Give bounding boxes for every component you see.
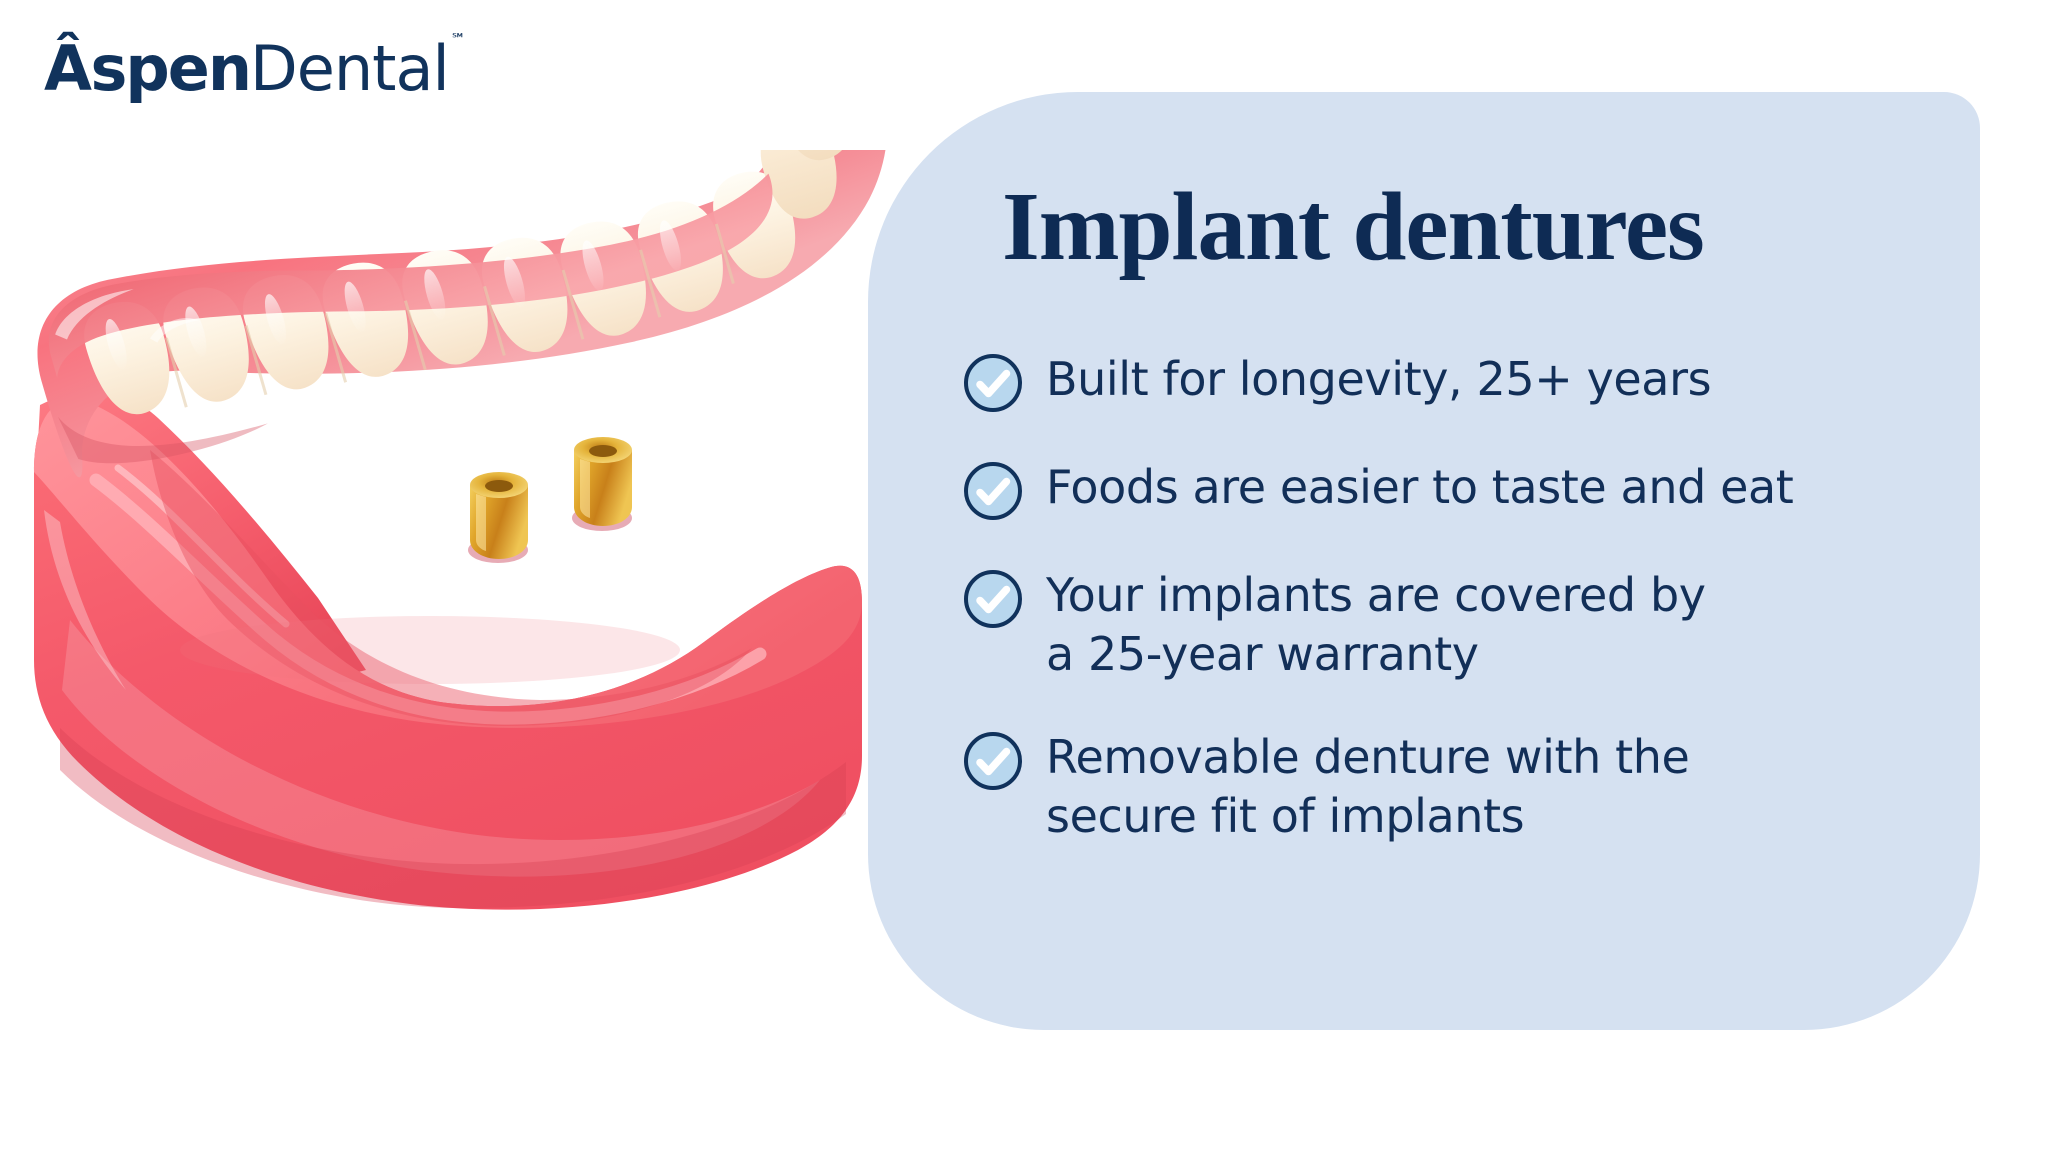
list-item: Foods are easier to taste and eat <box>962 456 1962 522</box>
list-item-label: Built for longevity, 25+ years <box>1046 348 1711 409</box>
check-circle-icon <box>962 460 1024 522</box>
implant-denture-model-photo <box>0 150 960 1050</box>
list-item: Built for longevity, 25+ years <box>962 348 1962 414</box>
list-item-label: Removable denture with the secure fit of… <box>1046 726 1689 846</box>
list-item: Removable denture with the secure fit of… <box>962 726 1962 846</box>
benefits-list: Built for longevity, 25+ years Foods are… <box>962 348 1962 846</box>
check-circle-icon <box>962 730 1024 792</box>
page-title: Implant dentures <box>1002 178 1704 277</box>
implant-abutment-left <box>468 472 528 563</box>
upper-denture <box>6 150 933 503</box>
slide-canvas: ÂspenDental℠ <box>0 0 2048 1152</box>
logo-trademark-symbol: ℠ <box>451 31 466 48</box>
logo-bold-word: spen <box>90 32 249 105</box>
check-circle-icon <box>962 568 1024 630</box>
logo-wordmark: ÂspenDental℠ <box>44 38 464 101</box>
aspen-dental-logo[interactable]: ÂspenDental℠ <box>44 38 464 101</box>
list-item-label: Foods are easier to taste and eat <box>1046 456 1793 517</box>
list-item: Your implants are covered by a 25-year w… <box>962 564 1962 684</box>
list-item-label: Your implants are covered by a 25-year w… <box>1046 564 1706 684</box>
logo-accent-letter: Â <box>44 32 90 105</box>
logo-light-word: Dental <box>250 32 449 105</box>
check-circle-icon <box>962 352 1024 414</box>
implant-abutment-right <box>572 437 632 531</box>
